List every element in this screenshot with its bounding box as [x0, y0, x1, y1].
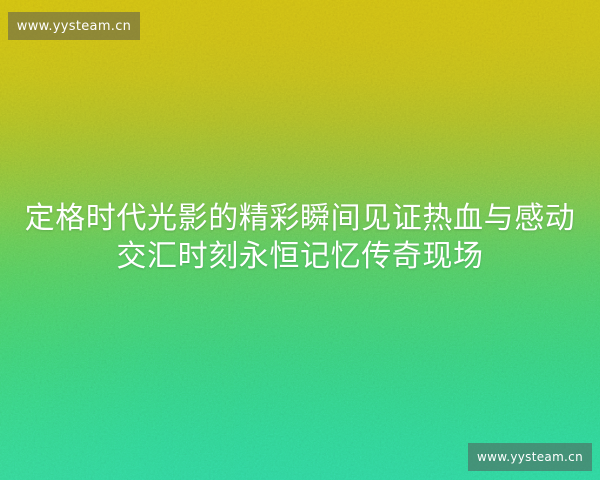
watermark-top-left: www.yysteam.cn	[8, 12, 140, 40]
watermark-bottom-right-text: www.yysteam.cn	[477, 450, 583, 464]
watermark-top-left-text: www.yysteam.cn	[17, 19, 131, 34]
watermark-bottom-right: www.yysteam.cn	[468, 443, 592, 471]
image-canvas: 定格时代光影的精彩瞬间见证热血与感动 交汇时刻永恒记忆传奇现场 www.yyst…	[0, 0, 600, 480]
gradient-horizontal-shade	[0, 0, 600, 480]
